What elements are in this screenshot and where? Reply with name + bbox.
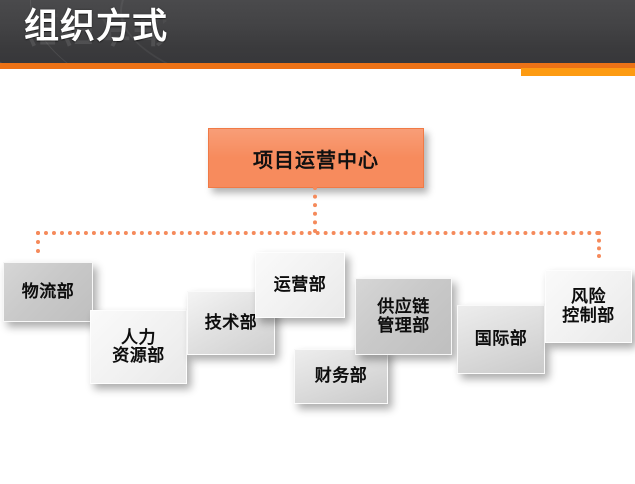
swoosh-decoration-icon xyxy=(120,0,635,64)
org-node-department[interactable]: 运营部 xyxy=(255,252,345,318)
org-node-department[interactable]: 财务部 xyxy=(294,349,388,404)
org-node-department-label: 供应链 管理部 xyxy=(373,298,434,335)
org-node-department-label: 物流部 xyxy=(18,283,79,301)
connector-vertical-stem xyxy=(313,186,317,233)
org-node-department[interactable]: 物流部 xyxy=(3,262,93,322)
slide-canvas: 组织方式 组织方式 项目运营中心 物流部人力 资源部技术部运营部财务部供应链 管… xyxy=(0,0,635,484)
org-node-department-label: 财务部 xyxy=(311,367,372,385)
org-node-department[interactable]: 人力 资源部 xyxy=(90,310,187,384)
slide-header: 组织方式 组织方式 xyxy=(0,0,635,64)
org-node-department-label: 运营部 xyxy=(270,276,331,294)
org-node-department[interactable]: 国际部 xyxy=(457,305,545,374)
connector-drop-left xyxy=(36,231,40,253)
header-accent-bar xyxy=(521,68,635,76)
org-node-root-label: 项目运营中心 xyxy=(253,144,379,173)
org-node-department-label: 风险 控制部 xyxy=(558,288,619,325)
org-node-department[interactable]: 风险 控制部 xyxy=(545,270,632,343)
org-node-department[interactable]: 供应链 管理部 xyxy=(355,278,452,355)
connector-horizontal-bus xyxy=(36,231,600,235)
org-node-root[interactable]: 项目运营中心 xyxy=(208,128,424,188)
org-chart: 项目运营中心 物流部人力 资源部技术部运营部财务部供应链 管理部国际部风险 控制… xyxy=(0,76,635,484)
connector-drop-right xyxy=(597,231,601,258)
org-node-department-label: 人力 资源部 xyxy=(108,329,169,366)
org-node-department-label: 技术部 xyxy=(201,314,262,332)
org-node-department-label: 国际部 xyxy=(471,330,532,348)
page-title: 组织方式 xyxy=(24,5,168,49)
